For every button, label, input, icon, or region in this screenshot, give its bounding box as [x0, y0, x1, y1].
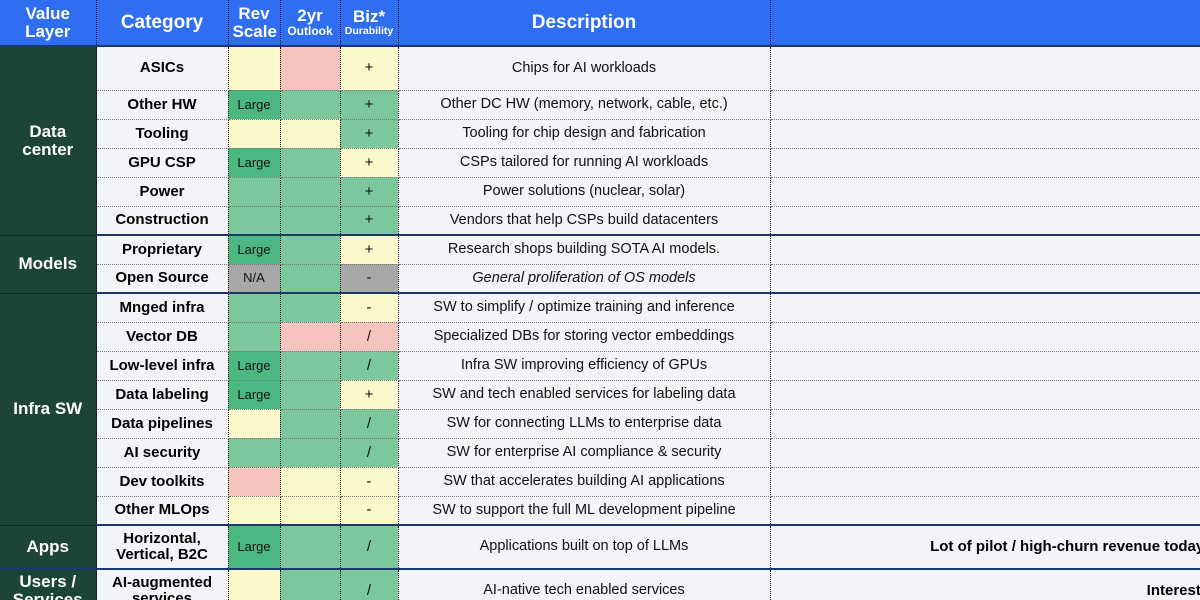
- spreadsheet-viewport: Value Layer Category Rev Scale 2yr Outlo…: [0, 0, 1200, 600]
- rev-scale-cell[interactable]: Large: [228, 351, 280, 380]
- category-cell[interactable]: Data pipelines: [96, 409, 228, 438]
- biz-durability-cell[interactable]: +: [340, 148, 398, 177]
- table-row: Open SourceN/A-General proliferation of …: [0, 264, 1200, 293]
- outlook-cell[interactable]: [280, 293, 340, 322]
- avenir-perspective-cell[interactable]: Nascent market dominated by OS projects.…: [770, 467, 1200, 496]
- description-cell[interactable]: Vendors that help CSPs build datacenters: [398, 206, 770, 235]
- description-cell[interactable]: Other DC HW (memory, network, cable, etc…: [398, 90, 770, 119]
- rev-scale-line2: Scale: [233, 23, 276, 41]
- category-cell[interactable]: Vector DB: [96, 322, 228, 351]
- value-layer-line2: Layer: [4, 23, 92, 41]
- biz-durability-cell[interactable]: -: [340, 264, 398, 293]
- description-cell[interactable]: Research shops building SOTA AI models.: [398, 235, 770, 264]
- biz-durability-cell[interactable]: /: [340, 409, 398, 438]
- column-header-rev-scale[interactable]: Rev Scale: [228, 0, 280, 46]
- rev-scale-cell[interactable]: [228, 177, 280, 206]
- outlook-cell[interactable]: [280, 235, 340, 264]
- biz-line1: Biz*: [353, 7, 385, 26]
- rev-scale-cell[interactable]: [228, 438, 280, 467]
- description-cell[interactable]: SW and tech enabled services for labelin…: [398, 380, 770, 409]
- description-cell[interactable]: Infra SW improving efficiency of GPUs: [398, 351, 770, 380]
- category-cell[interactable]: AI security: [96, 438, 228, 467]
- outlook-cell[interactable]: [280, 351, 340, 380]
- category-cell[interactable]: Open Source: [96, 264, 228, 293]
- biz-durability-cell[interactable]: +: [340, 119, 398, 148]
- value-layer-cell[interactable]: Models: [0, 235, 96, 293]
- table-row: Data pipelines/SW for connecting LLMs to…: [0, 409, 1200, 438]
- avenir-perspective-cell[interactable]: High value for open source models but le…: [770, 293, 1200, 322]
- rev-scale-cell[interactable]: [228, 322, 280, 351]
- description-cell[interactable]: Power solutions (nuclear, solar): [398, 177, 770, 206]
- outlook-cell[interactable]: [280, 438, 340, 467]
- biz-durability-cell[interactable]: +: [340, 380, 398, 409]
- description-cell[interactable]: Tooling for chip design and fabrication: [398, 119, 770, 148]
- category-cell[interactable]: ASICs: [96, 46, 228, 90]
- avenir-perspective-cell[interactable]: High value but signs point to con: [770, 322, 1200, 351]
- description-cell[interactable]: SW for connecting LLMs to enterprise dat…: [398, 409, 770, 438]
- outlook-cell[interactable]: [280, 177, 340, 206]
- avenir-perspective-cell[interactable]: Viable competitors have whittled down. N…: [770, 235, 1200, 264]
- outlook-cell[interactable]: [280, 380, 340, 409]
- value-layer-cell[interactable]: Users / Services: [0, 569, 96, 600]
- description-cell[interactable]: General proliferation of OS models: [398, 264, 770, 293]
- rev-scale-cell[interactable]: Large: [228, 380, 280, 409]
- column-header-2yr-outlook[interactable]: 2yr Outlook: [280, 0, 340, 46]
- biz-durability-cell[interactable]: -: [340, 496, 398, 525]
- biz-durability-cell[interactable]: +: [340, 46, 398, 90]
- value-layer-cell[interactable]: Apps: [0, 525, 96, 569]
- rev-scale-cell[interactable]: [228, 569, 280, 600]
- description-cell[interactable]: Applications built on top of LLMs: [398, 525, 770, 569]
- table-row: Vector DB/Specialized DBs for storing ve…: [0, 322, 1200, 351]
- biz-durability-cell[interactable]: /: [340, 351, 398, 380]
- category-cell[interactable]: Horizontal, Vertical, B2C: [96, 525, 228, 569]
- table-row: Dev toolkits-SW that accelerates buildin…: [0, 467, 1200, 496]
- table-row: AppsHorizontal, Vertical, B2CLarge/Appli…: [0, 525, 1200, 569]
- value-layer-cell[interactable]: Infra SW: [0, 293, 96, 525]
- rev-scale-cell[interactable]: [228, 119, 280, 148]
- outlook-cell[interactable]: [280, 467, 340, 496]
- rev-scale-cell[interactable]: [228, 409, 280, 438]
- table-row: ModelsProprietaryLarge+Research shops bu…: [0, 235, 1200, 264]
- category-cell[interactable]: Power: [96, 177, 228, 206]
- rev-scale-cell[interactable]: Large: [228, 525, 280, 569]
- avenir-perspective-cell[interactable]: Lot of pilot / high-churn revenue today …: [770, 525, 1200, 569]
- outlook-cell[interactable]: [280, 90, 340, 119]
- biz-durability-cell[interactable]: +: [340, 177, 398, 206]
- table-row: Other MLOps-SW to support the full ML de…: [0, 496, 1200, 525]
- biz-durability-cell[interactable]: /: [340, 569, 398, 600]
- rev-scale-cell[interactable]: [228, 467, 280, 496]
- description-cell[interactable]: CSPs tailored for running AI workloads: [398, 148, 770, 177]
- rev-scale-cell[interactable]: [228, 496, 280, 525]
- outlook-cell[interactable]: [280, 569, 340, 600]
- biz-durability-cell[interactable]: +: [340, 235, 398, 264]
- description-cell[interactable]: Specialized DBs for storing vector embed…: [398, 322, 770, 351]
- category-cell[interactable]: GPU CSP: [96, 148, 228, 177]
- category-cell[interactable]: Other MLOps: [96, 496, 228, 525]
- column-header-value-layer[interactable]: Value Layer: [0, 0, 96, 46]
- category-cell[interactable]: Construction: [96, 206, 228, 235]
- avenir-perspective-cell[interactable]: Will be areas with high torque (cooli: [770, 177, 1200, 206]
- avenir-perspective-cell[interactable]: High growth area today, bu: [770, 380, 1200, 409]
- description-cell[interactable]: SW to support the full ML development pi…: [398, 496, 770, 525]
- category-cell[interactable]: AI-augmented services: [96, 569, 228, 600]
- rev-scale-cell[interactable]: Large: [228, 235, 280, 264]
- value-layer-cell[interactable]: Data center: [0, 46, 96, 235]
- outlook-cell[interactable]: [280, 206, 340, 235]
- avenir-perspective-cell[interactable]: Dominated by Meta, monetization v: [770, 264, 1200, 293]
- table-row: Infra SWMnged infra-SW to simplify / opt…: [0, 293, 1200, 322]
- table-row: Other HWLarge+Other DC HW (memory, netwo…: [0, 90, 1200, 119]
- outlook-cell[interactable]: [280, 525, 340, 569]
- table-header: Value Layer Category Rev Scale 2yr Outlo…: [0, 0, 1200, 46]
- two-yr-line2: Outlook: [285, 25, 336, 37]
- table-row: Construction+Vendors that help CSPs buil…: [0, 206, 1200, 235]
- outlook-cell[interactable]: [280, 119, 340, 148]
- outlook-cell[interactable]: [280, 409, 340, 438]
- category-cell[interactable]: Dev toolkits: [96, 467, 228, 496]
- avenir-perspective-cell[interactable]: Strategic to ecosystem but economics are: [770, 148, 1200, 177]
- outlook-cell[interactable]: [280, 322, 340, 351]
- biz-durability-cell[interactable]: -: [340, 467, 398, 496]
- table-row: Power+Power solutions (nuclear, solar)Wi…: [0, 177, 1200, 206]
- avenir-perspective-cell[interactable]: Key to enabling large compute clusters: [770, 90, 1200, 119]
- description-cell[interactable]: AI-native tech enabled services: [398, 569, 770, 600]
- description-cell[interactable]: SW that accelerates building AI applicat…: [398, 467, 770, 496]
- category-cell[interactable]: Mnged infra: [96, 293, 228, 322]
- category-cell[interactable]: Other HW: [96, 90, 228, 119]
- avenir-perspective-cell[interactable]: Interested in product-first services com…: [770, 569, 1200, 600]
- rev-scale-cell[interactable]: Large: [228, 148, 280, 177]
- value-chain-table: Value Layer Category Rev Scale 2yr Outlo…: [0, 0, 1200, 600]
- description-cell[interactable]: SW to simplify / optimize training and i…: [398, 293, 770, 322]
- outlook-cell[interactable]: [280, 46, 340, 90]
- avenir-perspective-cell[interactable]: Bottleneck for enterprise AI adoption. N…: [770, 409, 1200, 438]
- category-cell[interactable]: Tooling: [96, 119, 228, 148]
- avenir-perspective-cell[interactable]: Bottleneck for enterprise AI adoption. N…: [770, 438, 1200, 467]
- biz-durability-cell[interactable]: +: [340, 90, 398, 119]
- category-cell[interactable]: Data labeling: [96, 380, 228, 409]
- outlook-cell[interactable]: [280, 264, 340, 293]
- biz-durability-cell[interactable]: +: [340, 206, 398, 235]
- column-header-biz-durability[interactable]: Biz* Durability: [340, 0, 398, 46]
- avenir-perspective-cell[interactable]: Nvidia very well positioned; inference A…: [770, 46, 1200, 90]
- table-row: Data centerASICs+Chips for AI workloadsN…: [0, 46, 1200, 90]
- biz-line2: Durability: [345, 26, 394, 37]
- avenir-perspective-cell[interactable]: Strong tailwinds to any vendor that can …: [770, 351, 1200, 380]
- biz-durability-cell[interactable]: /: [340, 525, 398, 569]
- header-row: Value Layer Category Rev Scale 2yr Outlo…: [0, 0, 1200, 46]
- rev-scale-line1: Rev: [238, 4, 269, 23]
- description-cell[interactable]: Chips for AI workloads: [398, 46, 770, 90]
- table-row: Users / ServicesAI-augmented services/AI…: [0, 569, 1200, 600]
- table-body: Data centerASICs+Chips for AI workloadsN…: [0, 46, 1200, 600]
- avenir-perspective-cell[interactable]: Real estate boom area, infra PE and spec…: [770, 206, 1200, 235]
- outlook-cell[interactable]: [280, 148, 340, 177]
- table-row: AI security/SW for enterprise AI complia…: [0, 438, 1200, 467]
- rev-scale-cell[interactable]: [228, 206, 280, 235]
- category-cell[interactable]: Proprietary: [96, 235, 228, 264]
- outlook-cell[interactable]: [280, 496, 340, 525]
- rev-scale-cell[interactable]: Large: [228, 90, 280, 119]
- biz-durability-cell[interactable]: /: [340, 322, 398, 351]
- table-row: GPU CSPLarge+CSPs tailored for running A…: [0, 148, 1200, 177]
- description-cell[interactable]: SW for enterprise AI compliance & securi…: [398, 438, 770, 467]
- biz-durability-cell[interactable]: /: [340, 438, 398, 467]
- column-header-avenir-perspective[interactable]: Avenir Per: [770, 0, 1200, 46]
- two-yr-line1: 2yr: [297, 6, 323, 25]
- avenir-perspective-cell[interactable]: Overvalued market funded ahead of demand…: [770, 496, 1200, 525]
- table-row: Low-level infraLarge/Infra SW improving …: [0, 351, 1200, 380]
- rev-scale-cell[interactable]: N/A: [228, 264, 280, 293]
- avenir-perspective-cell[interactable]: Niche market, but opportunities fo: [770, 119, 1200, 148]
- category-cell[interactable]: Low-level infra: [96, 351, 228, 380]
- column-header-description[interactable]: Description: [398, 0, 770, 46]
- biz-durability-cell[interactable]: -: [340, 293, 398, 322]
- rev-scale-cell[interactable]: [228, 46, 280, 90]
- table-row: Tooling+Tooling for chip design and fabr…: [0, 119, 1200, 148]
- value-layer-line1: Value: [26, 4, 70, 23]
- rev-scale-cell[interactable]: [228, 293, 280, 322]
- table-row: Data labelingLarge+SW and tech enabled s…: [0, 380, 1200, 409]
- column-header-category[interactable]: Category: [96, 0, 228, 46]
